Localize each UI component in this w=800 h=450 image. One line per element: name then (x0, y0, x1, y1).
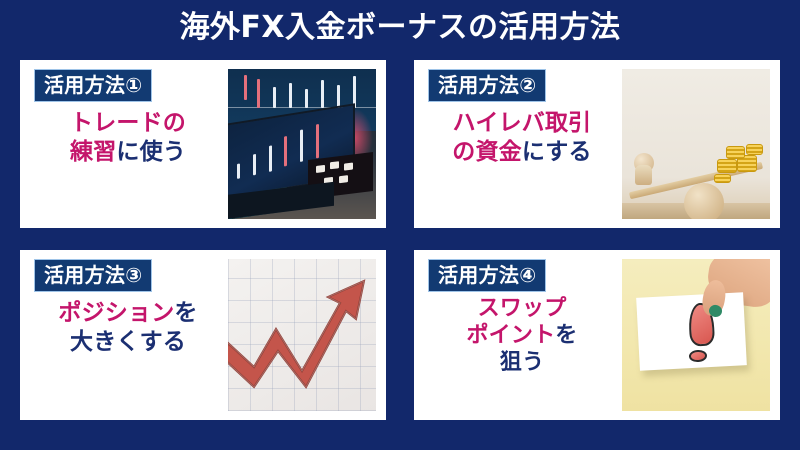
card-3-image-column (226, 250, 386, 420)
card-grid: 活用方法① トレードの 練習に使う (20, 60, 780, 430)
candle (305, 89, 308, 109)
candle (285, 136, 288, 166)
card-3-headline-rest-b: 大きくする (70, 329, 186, 355)
card-4-headline-accent2: ポイント (466, 323, 555, 348)
card-method-3[interactable]: 活用方法③ ポジションを 大きくする (20, 250, 386, 420)
card-3-headline-rest-a: を (174, 300, 197, 326)
candle (253, 154, 256, 176)
card-4-headline-accent: スワップ (478, 296, 567, 321)
card-1-headline-accent: トレードの (70, 110, 186, 136)
card-1-text-column: 活用方法① トレードの 練習に使う (20, 60, 226, 228)
card-3-headline-accent: ポジション (58, 300, 174, 326)
arrow-shape (228, 259, 376, 411)
candle (316, 124, 319, 159)
card-3-headline: ポジションを 大きくする (30, 299, 226, 357)
card-2-headline-accent: ハイレバ取引 (453, 110, 592, 136)
candle (300, 129, 303, 162)
card-2-image-column (620, 60, 780, 228)
balance-scale-coins-photo (622, 69, 770, 219)
page-title: 海外FX入金ボーナスの活用方法 (0, 0, 800, 56)
trading-desk-photo (228, 69, 376, 219)
candle (269, 145, 272, 171)
coin-stack (746, 144, 763, 155)
card-method-1[interactable]: 活用方法① トレードの 練習に使う (20, 60, 386, 228)
badge-method-2: 活用方法② (428, 69, 546, 102)
badge-method-3: 活用方法③ (34, 259, 152, 292)
card-4-headline-rest-a: を (555, 323, 577, 348)
candle (273, 87, 276, 108)
card-3-text-column: 活用方法③ ポジションを 大きくする (20, 250, 226, 420)
badge-method-1: 活用方法① (34, 69, 152, 102)
badge-method-4: 活用方法④ (428, 259, 546, 292)
coin-stack (714, 174, 731, 183)
card-4-headline: スワップ ポイントを 狙う (424, 296, 620, 376)
card-method-2[interactable]: 活用方法② ハイレバ取引 の資金にする (414, 60, 780, 228)
coin-stack (717, 159, 737, 173)
card-2-headline-rest: にする (522, 139, 592, 165)
page-title-text: 海外FX入金ボーナスの活用方法 (179, 13, 620, 43)
card-1-headline-accent2: 練習 (70, 139, 116, 165)
card-4-text-column: 活用方法④ スワップ ポイントを 狙う (414, 250, 620, 420)
card-1-headline-rest: に使う (116, 139, 186, 165)
card-1-headline: トレードの 練習に使う (30, 109, 226, 167)
card-1-image-column (226, 60, 386, 228)
rising-arrow-graph-photo (228, 259, 376, 411)
candle (244, 75, 247, 100)
card-4-headline-rest-b: 狙う (500, 350, 544, 375)
coin-stack (726, 146, 745, 159)
slide-root: 海外FX入金ボーナスの活用方法 活用方法① トレードの 練習に使う (0, 0, 800, 450)
card-2-headline-accent2: の資金 (452, 139, 522, 165)
candle (237, 163, 240, 179)
card-method-4[interactable]: 活用方法④ スワップ ポイントを 狙う (414, 250, 780, 420)
card-2-headline: ハイレバ取引 の資金にする (424, 109, 620, 167)
wooden-ball-fulcrum (684, 183, 724, 219)
candle (257, 79, 260, 109)
wooden-figure-body (635, 165, 652, 185)
card-4-image-column (620, 250, 780, 420)
candle (289, 83, 292, 109)
candle (321, 80, 324, 108)
card-2-text-column: 活用方法② ハイレバ取引 の資金にする (414, 60, 620, 228)
hand-exclamation-card-photo (622, 259, 770, 411)
